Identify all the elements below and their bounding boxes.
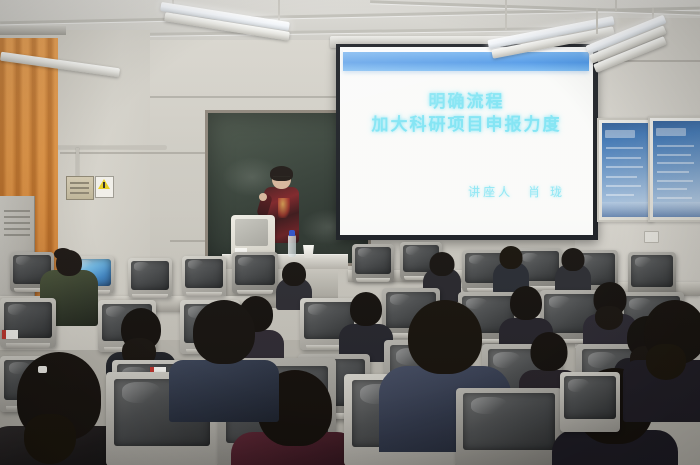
curtain-rail xyxy=(0,26,66,35)
crt-monitor-foreground[interactable] xyxy=(560,372,620,432)
monitor-asset-tag xyxy=(2,330,18,339)
lecturer-glasses xyxy=(273,176,290,181)
podium-crt-monitor xyxy=(231,215,275,257)
electrical-box xyxy=(66,176,94,200)
bulletin-board-left[interactable] xyxy=(597,118,654,222)
slide-presenter-line: 讲座人 肖 珑 xyxy=(340,183,593,200)
student-foreground-right xyxy=(176,300,272,420)
electrical-hazard-sign xyxy=(95,176,114,198)
crt-monitor-foreground[interactable] xyxy=(456,388,562,465)
ceiling-lamp xyxy=(556,8,686,88)
crt-monitor[interactable] xyxy=(0,298,56,348)
lecturer-garment-pattern xyxy=(278,198,290,218)
wall-trim-line xyxy=(150,96,350,98)
lightning-bolt-icon xyxy=(103,182,105,188)
ceiling-lamp xyxy=(150,0,300,70)
water-bottle xyxy=(288,235,296,257)
conduit-pipe xyxy=(46,146,166,149)
slide-title-line-1: 明确流程 xyxy=(340,91,593,114)
hair-clip xyxy=(38,366,47,373)
lecturer-hand xyxy=(259,193,267,201)
crt-monitor[interactable] xyxy=(352,244,394,282)
slide-title-line-2: 加大科研项目申报力度 xyxy=(340,114,593,137)
student-foreground-right-hair xyxy=(630,300,700,420)
classroom-photo: 明确流程 加大科研项目申报力度 讲座人 肖 珑 xyxy=(0,0,700,465)
bottle-cap xyxy=(289,230,295,236)
crt-monitor[interactable] xyxy=(232,252,278,294)
bulletin-board-right[interactable] xyxy=(648,116,700,222)
wall-socket[interactable] xyxy=(644,231,659,243)
crt-monitor[interactable] xyxy=(128,258,172,298)
paper-cup xyxy=(303,245,314,258)
ceiling-lamp xyxy=(0,44,130,84)
student xyxy=(494,246,528,288)
crt-monitor[interactable] xyxy=(182,256,226,296)
